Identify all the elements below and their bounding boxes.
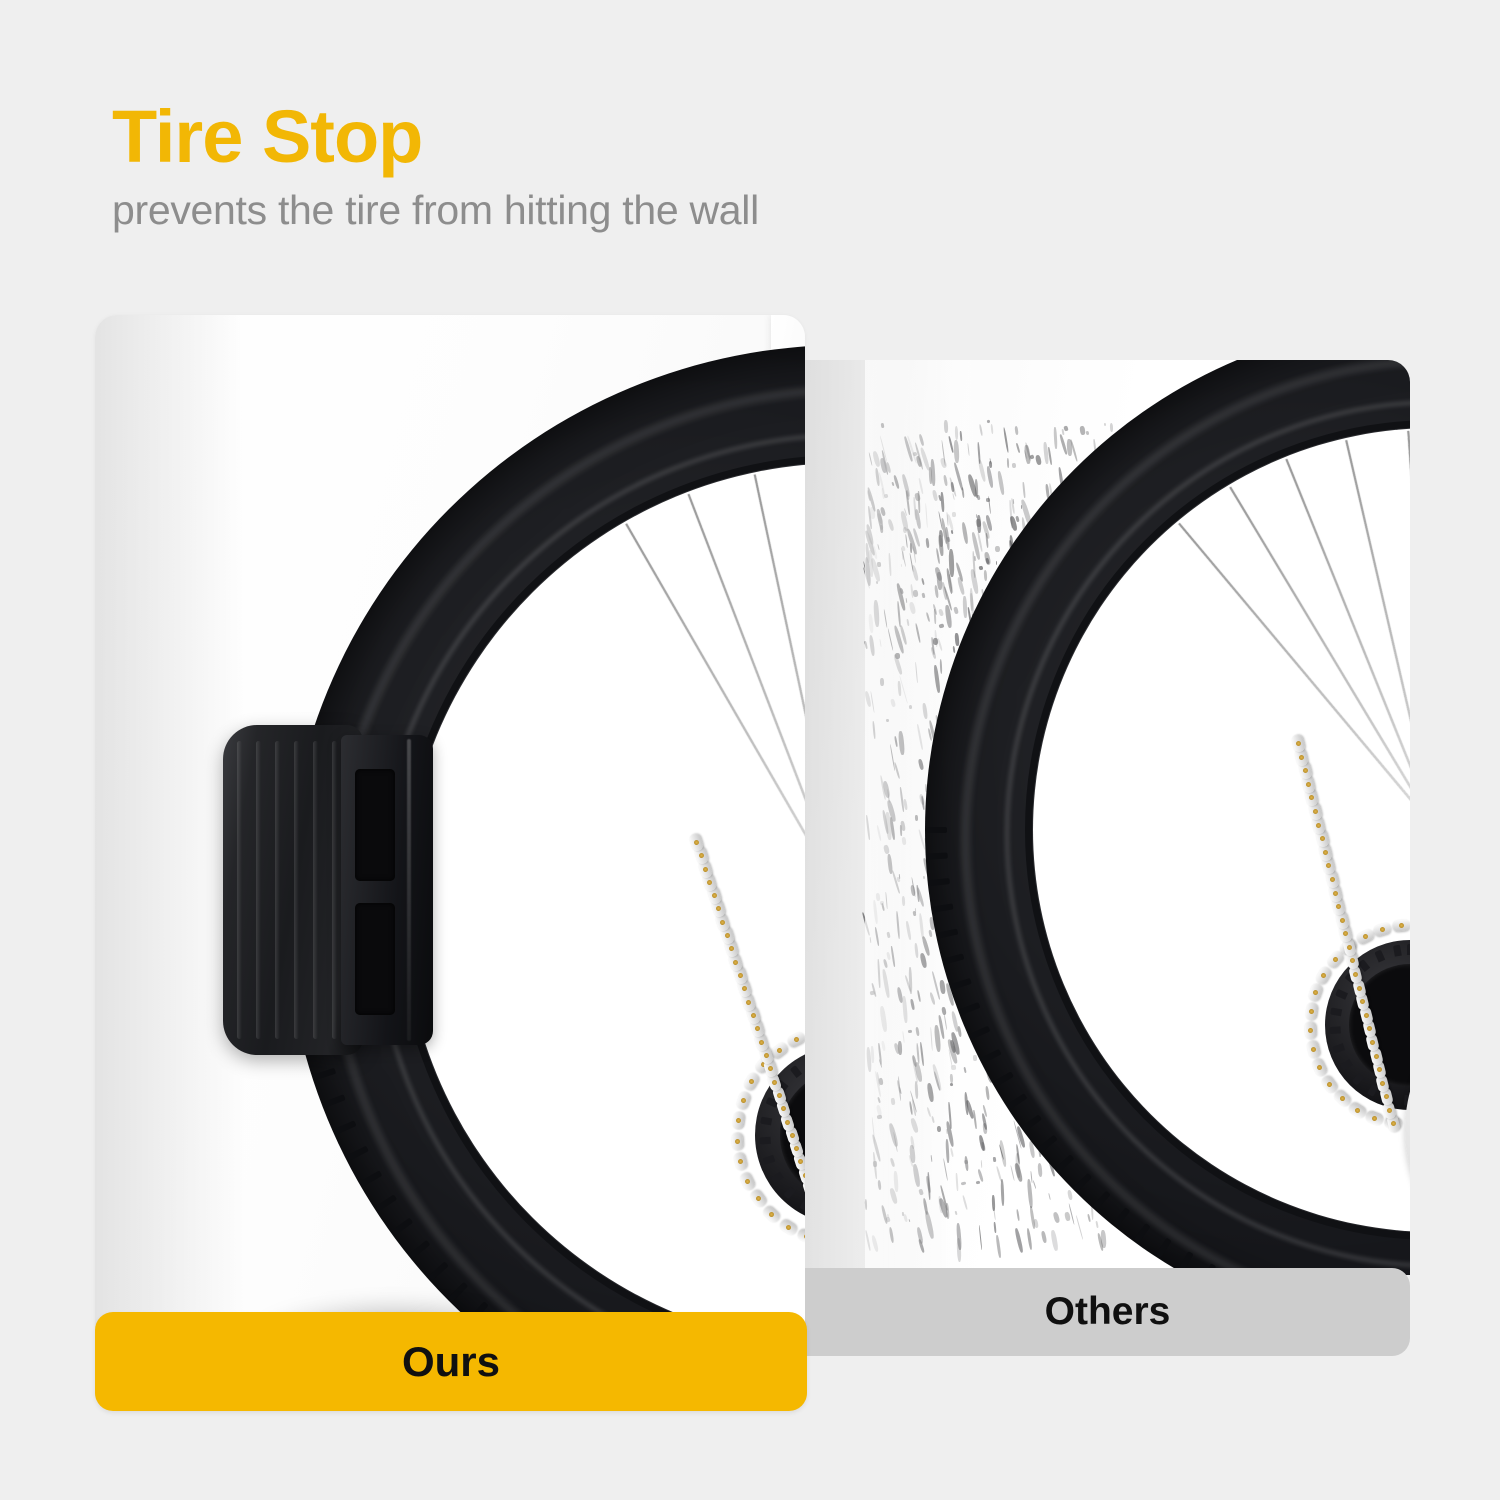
bracket-cutout-bottom — [355, 903, 395, 1015]
tire-stop-device — [223, 725, 443, 1065]
bracket-edge-highlight — [407, 739, 411, 1041]
page-title: Tire Stop — [112, 100, 1312, 174]
comparison-panel-others — [805, 360, 1410, 1275]
bicycle-wheel — [925, 360, 1410, 1275]
product-comparison-graphic: Tire Stop prevents the tire from hitting… — [0, 0, 1500, 1500]
bike-chain — [925, 360, 1410, 1275]
page-subtitle: prevents the tire from hitting the wall — [112, 188, 1312, 233]
label-ours: Ours — [95, 1312, 807, 1411]
tire-stop-bracket — [341, 735, 433, 1045]
label-ours-text: Ours — [402, 1338, 500, 1386]
label-others: Others — [805, 1268, 1410, 1356]
disc-brake-rotor — [1405, 980, 1410, 1275]
tire-stop-ribs — [237, 741, 347, 1039]
label-others-text: Others — [1045, 1290, 1171, 1334]
bracket-cutout-top — [355, 769, 395, 881]
comparison-panel-ours — [95, 315, 805, 1325]
header: Tire Stop prevents the tire from hitting… — [112, 100, 1312, 233]
